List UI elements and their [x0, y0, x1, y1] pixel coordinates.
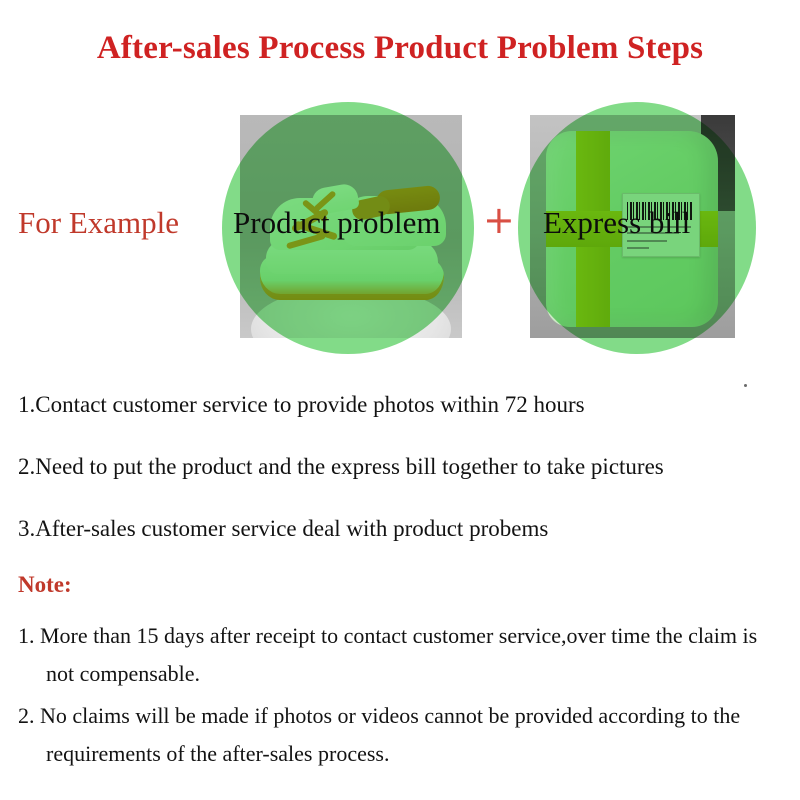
page-title: After-sales Process Product Problem Step…: [0, 30, 800, 67]
step-item-1: 1.Contact customer service to provide ph…: [18, 392, 782, 418]
step-item-3: 3.After-sales customer service deal with…: [18, 516, 782, 542]
process-steps-list: 1.Contact customer service to provide ph…: [18, 392, 782, 578]
note-heading: Note:: [18, 572, 72, 598]
after-sales-info-page: After-sales Process Product Problem Step…: [0, 0, 800, 800]
plus-icon: +: [483, 201, 515, 239]
note-item-1: 1. More than 15 days after receipt to co…: [18, 617, 788, 693]
image-speck: [744, 384, 747, 387]
express-bill-caption: Express bill: [543, 205, 690, 241]
product-problem-caption: Product problem: [233, 205, 441, 241]
note-item-2: 2. No claims will be made if photos or v…: [18, 697, 788, 773]
step-item-2: 2.Need to put the product and the expres…: [18, 454, 782, 480]
label-text-line: [627, 247, 649, 249]
example-section: For Example: [0, 105, 800, 355]
note-list: 1. More than 15 days after receipt to co…: [18, 617, 788, 777]
for-example-label: For Example: [18, 205, 179, 241]
